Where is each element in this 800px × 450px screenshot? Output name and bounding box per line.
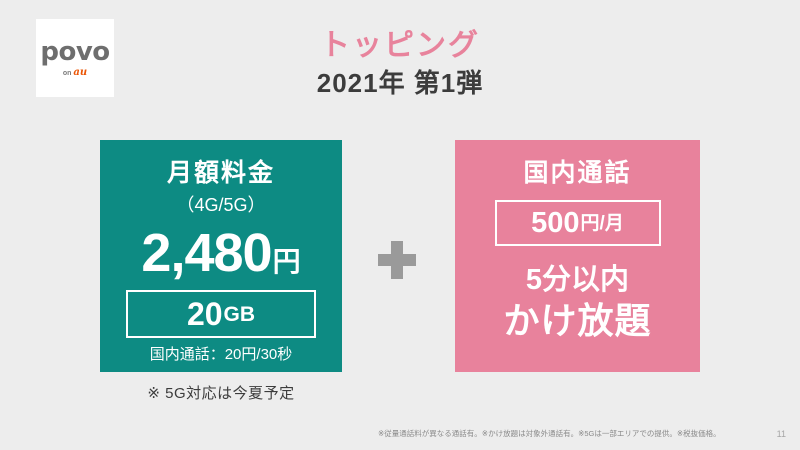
option-price-amount: 500: [531, 209, 579, 238]
page-title: トッピング: [0, 20, 800, 64]
plan-card-footer: 国内通話：20円/30秒: [150, 347, 293, 362]
plan-data-unit: GB: [224, 304, 256, 325]
page-subtitle: 2021年 第1弾: [0, 63, 800, 100]
plan-card-price: 2,480 円: [141, 226, 300, 280]
option-card: 国内通話 500 円/月 5分以内 かけ放題: [455, 140, 700, 372]
plan-card-heading: 月額料金: [167, 161, 275, 186]
five-g-note: ※ 5G対応は今夏予定: [100, 382, 342, 403]
option-price-unit: 円/月: [581, 214, 624, 233]
plan-data-allowance-box: 20 GB: [126, 290, 316, 338]
plan-card: 月額料金 （4G/5G） 2,480 円 20 GB 国内通話：20円/30秒: [100, 140, 342, 372]
option-card-line1: 5分以内: [526, 266, 629, 295]
plus-icon: [378, 241, 416, 279]
slide-root: { "logo": { "wordmark": "povo", "sub_pre…: [0, 0, 800, 450]
plan-price-unit: 円: [273, 248, 301, 276]
option-price-box: 500 円/月: [495, 200, 661, 246]
plan-card-subheading: （4G/5G）: [176, 196, 265, 214]
plan-data-amount: 20: [187, 298, 223, 330]
page-number: 11: [777, 429, 786, 439]
footnote-disclaimer: ※従量通話料が異なる通話有。※かけ放題は対象外通話有。※5Gは一部エリアでの提供…: [378, 428, 721, 439]
option-card-heading: 国内通話: [523, 161, 631, 186]
option-card-line2: かけ放題: [503, 303, 651, 339]
plan-price-amount: 2,480: [141, 226, 271, 280]
